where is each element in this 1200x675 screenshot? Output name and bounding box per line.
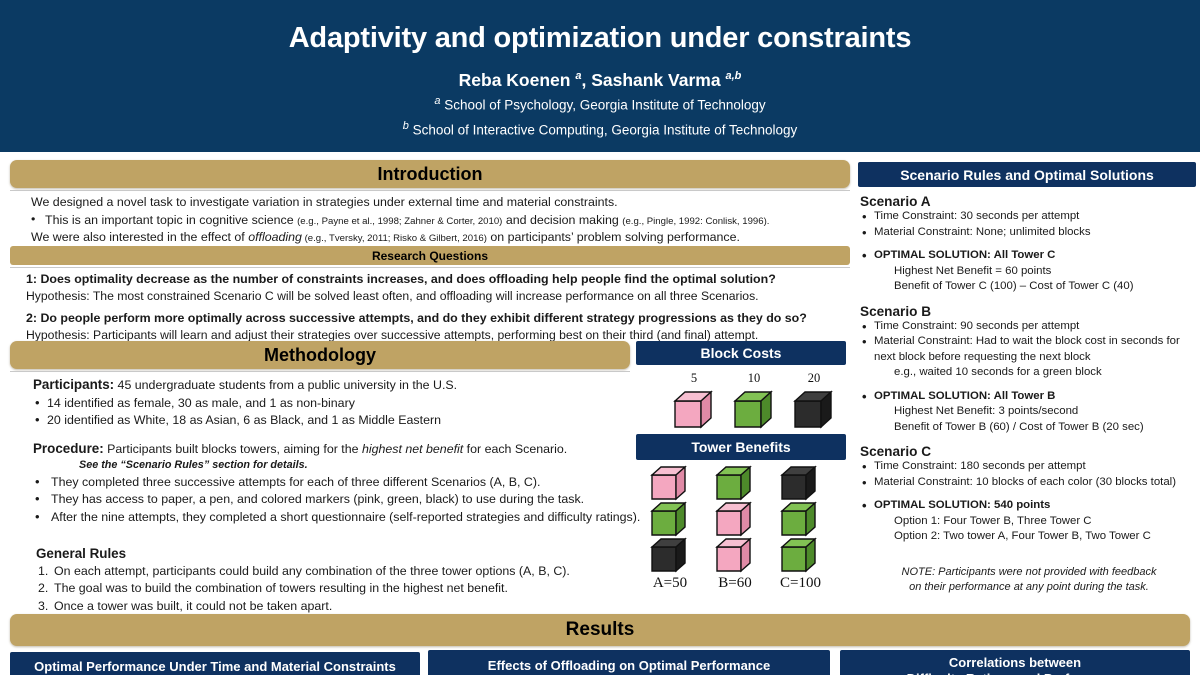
list-item: 20 identified as White, 18 as Asian, 6 a…	[33, 412, 648, 430]
section-header-block-costs: Block Costs	[636, 341, 846, 365]
list-item: Material Constraint: 10 blocks of each c…	[860, 475, 1198, 491]
scenario-rules-note-line-1: NOTE: Participants were not provided wit…	[872, 565, 1186, 580]
divider-intro-top	[10, 190, 850, 191]
results-panel-1-title: Optimal Performance Under Time and Mater…	[34, 659, 396, 674]
scenario-b-optimal: OPTIMAL SOLUTION: All Tower B	[860, 389, 1198, 405]
scenario-a-optimal: OPTIMAL SOLUTION: All Tower C	[860, 248, 1198, 264]
tower-a-label: A=50	[653, 575, 687, 592]
scenario-a-bullets: Time Constraint: 30 seconds per attempt …	[860, 209, 1198, 240]
cube-green-icon	[780, 501, 820, 537]
research-question-1: 1: Does optimality decrease as the numbe…	[26, 271, 848, 288]
introduction-bullet-1-text: This is an important topic in cognitive …	[45, 213, 297, 227]
cube-black-icon	[650, 537, 690, 573]
scenario-b-bullet-sub: e.g., waited 10 seconds for a green bloc…	[860, 365, 1198, 381]
scenario-b-optimal-line-2: Benefit of Tower B (60) / Cost of Tower …	[860, 420, 1198, 436]
results-panel-1-header: Optimal Performance Under Time and Mater…	[10, 652, 420, 675]
poster-header: Adaptivity and optimization under constr…	[0, 0, 1200, 152]
introduction-line-3-b: on participants’ problem solving perform…	[487, 230, 740, 244]
cube-black-icon	[780, 465, 820, 501]
introduction-line-3-a: We were also interested in the effect of	[31, 230, 248, 244]
list-item: Time Constraint: 30 seconds per attempt	[860, 209, 1198, 225]
introduction-bullet-1-citation-1: (e.g., Payne et al., 1998; Zahner & Cort…	[297, 216, 502, 227]
research-question-2: 2: Do people perform more optimally acro…	[26, 310, 848, 327]
scenario-rules-note: NOTE: Participants were not provided wit…	[860, 565, 1198, 596]
block-cost-value: 10	[748, 371, 761, 386]
scenario-c-optimal-line-2: Option 2: Two tower A, Four Tower B, Two…	[860, 529, 1198, 545]
section-header-methodology-label: Methodology	[264, 345, 376, 366]
list-item: Material Constraint: None; unlimited blo…	[860, 225, 1198, 241]
procedure-text-a: Participants built blocks towers, aiming…	[104, 442, 362, 456]
block-cost-item: 5	[673, 371, 715, 431]
author-2-name: , Sashank Varma	[581, 70, 725, 90]
results-panel-2-title: Effects of Offloading on Optimal Perform…	[488, 658, 770, 673]
cube-green-icon	[650, 501, 690, 537]
results-panel-3-title-line-1: Correlations between	[949, 655, 1081, 671]
poster-root: Adaptivity and optimization under constr…	[0, 0, 1200, 675]
section-header-tower-benefits: Tower Benefits	[636, 434, 846, 460]
procedure-text-keyword: highest net benefit	[362, 442, 463, 456]
introduction-line-3: We were also interested in the effect of…	[31, 229, 841, 247]
methodology-body: Participants: 45 undergraduate students …	[33, 375, 648, 633]
results-panel-3-title-line-2: Difficulty Ratings and Performance	[907, 671, 1124, 675]
author-list: Reba Koenen a, Sashank Varma a,b	[0, 70, 1200, 90]
introduction-line-1: We designed a novel task to investigate …	[31, 194, 841, 212]
cube-pink-icon	[715, 537, 755, 573]
introduction-bullet-1-mid: and decision making	[502, 213, 622, 227]
cube-green-icon	[733, 389, 775, 431]
procedure-note: See the “Scenario Rules” section for det…	[33, 458, 648, 473]
tower-c-label: C=100	[780, 575, 821, 592]
section-header-scenario-rules-label: Scenario Rules and Optimal Solutions	[900, 167, 1154, 183]
section-header-results: Results	[10, 614, 1190, 646]
affiliation-b: b School of Interactive Computing, Georg…	[0, 119, 1200, 140]
scenario-a-title: Scenario A	[860, 194, 1198, 209]
list-item: Time Constraint: 180 seconds per attempt	[860, 459, 1198, 475]
scenario-c-title: Scenario C	[860, 444, 1198, 459]
procedure-bullets: They completed three successive attempts…	[33, 474, 648, 527]
scenario-c-optimal-label: OPTIMAL SOLUTION: 540 points	[860, 498, 1198, 514]
scenario-b-optimal-line-1: Highest Net Benefit: 3 points/second	[860, 404, 1198, 420]
scenario-c-optimal: OPTIMAL SOLUTION: 540 points	[860, 498, 1198, 514]
affiliation-b-text: School of Interactive Computing, Georgia…	[409, 122, 797, 137]
section-header-methodology: Methodology	[10, 341, 630, 369]
results-panel-3-header: Correlations between Difficulty Ratings …	[840, 650, 1190, 675]
divider-method-top	[10, 371, 630, 372]
introduction-line-3-keyword: offloading	[248, 230, 302, 244]
procedure-label: Procedure:	[33, 441, 104, 456]
scenario-b-title: Scenario B	[860, 304, 1198, 319]
cube-pink-icon	[673, 389, 715, 431]
list-item: 14 identified as female, 30 as male, and…	[33, 395, 648, 413]
research-question-1-hypothesis: Hypothesis: The most constrained Scenari…	[26, 288, 848, 304]
list-item: Material Constraint: Had to wait the blo…	[860, 334, 1198, 365]
tower-benefits-figure: A=50	[650, 465, 821, 592]
introduction-line-3-citation: (e.g., Tversky, 2011; Risko & Gilbert, 2…	[302, 233, 487, 244]
list-item: They completed three successive attempts…	[33, 474, 648, 492]
affiliation-a-text: School of Psychology, Georgia Institute …	[440, 98, 765, 113]
procedure-line: Procedure: Participants built blocks tow…	[33, 439, 648, 459]
section-header-research-questions-label: Research Questions	[372, 249, 488, 263]
block-cost-value: 20	[808, 371, 821, 386]
section-header-introduction-label: Introduction	[378, 164, 483, 185]
scenario-a-optimal-line-1: Highest Net Benefit = 60 points	[860, 264, 1198, 280]
cube-black-icon	[793, 389, 835, 431]
block-cost-value: 5	[691, 371, 697, 386]
block-cost-item: 10	[733, 371, 775, 431]
introduction-body: We designed a novel task to investigate …	[31, 194, 841, 247]
cube-pink-icon	[715, 501, 755, 537]
affiliation-a: a School of Psychology, Georgia Institut…	[0, 94, 1200, 115]
list-item: The goal was to build the combination of…	[38, 580, 648, 598]
section-header-results-label: Results	[566, 619, 635, 641]
block-costs-figure: 5 10 20	[673, 371, 835, 431]
participants-line: Participants: 45 undergraduate students …	[33, 375, 648, 395]
list-item: They has access to paper, a pen, and col…	[33, 491, 648, 509]
tower-b-label: B=60	[718, 575, 751, 592]
list-item: Time Constraint: 90 seconds per attempt	[860, 319, 1198, 335]
procedure-text-b: for each Scenario.	[463, 442, 567, 456]
cube-pink-icon	[650, 465, 690, 501]
scenario-b-optimal-label: OPTIMAL SOLUTION: All Tower B	[860, 389, 1198, 405]
section-header-block-costs-label: Block Costs	[701, 345, 782, 361]
section-header-research-questions: Research Questions	[10, 246, 850, 265]
scenario-c-bullets: Time Constraint: 180 seconds per attempt…	[860, 459, 1198, 490]
scenario-rules-note-line-2: on their performance at any point during…	[872, 580, 1186, 595]
scenario-a-optimal-label: OPTIMAL SOLUTION: All Tower C	[860, 248, 1198, 264]
participants-bullets: 14 identified as female, 30 as male, and…	[33, 395, 648, 430]
list-item: Once a tower was built, it could not be …	[38, 598, 648, 616]
participants-text: 45 undergraduate students from a public …	[114, 378, 457, 392]
list-item: After the nine attempts, they completed …	[33, 509, 648, 527]
introduction-bullet-1: • This is an important topic in cognitiv…	[31, 212, 841, 230]
section-header-introduction: Introduction	[10, 160, 850, 188]
author-2-affiliation-marker: a,b	[725, 70, 741, 82]
bullet-glyph-icon: •	[31, 211, 35, 229]
list-item: On each attempt, participants could buil…	[38, 563, 648, 581]
block-cost-item: 20	[793, 371, 835, 431]
introduction-bullet-1-citation-2: (e.g., Pingle, 1992: Conlisk, 1996).	[622, 216, 769, 227]
scenario-rules-body: Scenario A Time Constraint: 30 seconds p…	[860, 194, 1198, 595]
tower-b: B=60	[715, 465, 755, 592]
scenario-c-optimal-line-1: Option 1: Four Tower B, Three Tower C	[860, 514, 1198, 530]
results-panel-2-header: Effects of Offloading on Optimal Perform…	[428, 650, 830, 675]
tower-c: C=100	[780, 465, 821, 592]
page-title: Adaptivity and optimization under constr…	[0, 0, 1200, 55]
scenario-a-optimal-line-2: Benefit of Tower C (100) – Cost of Tower…	[860, 279, 1198, 295]
tower-a: A=50	[650, 465, 690, 592]
general-rules-heading: General Rules	[33, 544, 648, 563]
section-header-tower-benefits-label: Tower Benefits	[691, 439, 790, 455]
research-questions-body: 1: Does optimality decrease as the numbe…	[26, 271, 848, 343]
section-header-scenario-rules: Scenario Rules and Optimal Solutions	[858, 162, 1196, 187]
participants-label: Participants:	[33, 377, 114, 392]
cube-green-icon	[780, 537, 820, 573]
divider-rq-top	[10, 267, 850, 268]
cube-green-icon	[715, 465, 755, 501]
scenario-b-bullets: Time Constraint: 90 seconds per attempt …	[860, 319, 1198, 366]
author-1-name: Reba Koenen	[459, 70, 576, 90]
